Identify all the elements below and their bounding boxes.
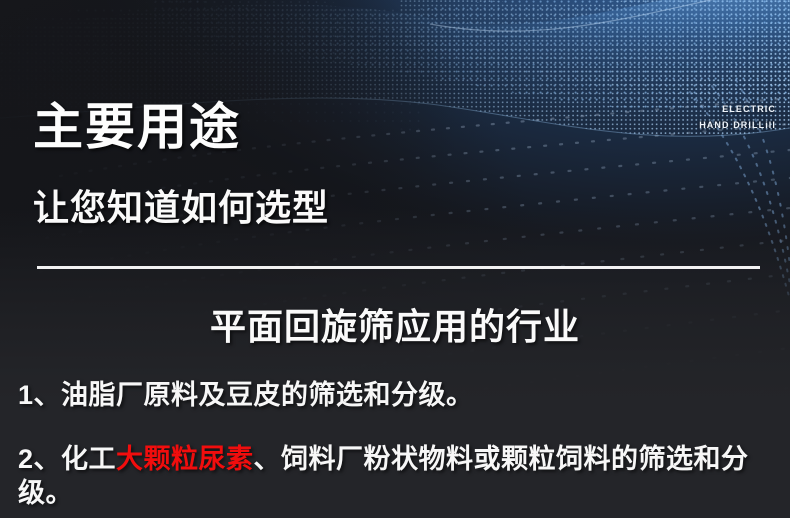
- list-item-index: 2、: [18, 444, 61, 474]
- application-list: 1、油脂厂原料及豆皮的筛选和分级。 2、化工大颗粒尿素、饲料厂粉状物料或颗粒饲料…: [18, 378, 776, 510]
- stamp-line-1: ELECTRIC: [699, 101, 776, 117]
- promo-banner-page: ELECTRIC HAND DRILLill 主要用途 让您知道如何选型 平面回…: [0, 0, 790, 518]
- list-item-text-prefix: 化工: [61, 444, 116, 474]
- list-item-text: 油脂厂原料及豆皮的筛选和分级。: [61, 380, 474, 410]
- list-item: 1、油脂厂原料及豆皮的筛选和分级。: [18, 378, 776, 412]
- section-title: 平面回旋筛应用的行业: [0, 298, 790, 350]
- corner-stamp: ELECTRIC HAND DRILLill: [699, 101, 776, 133]
- horizontal-divider: [37, 266, 760, 269]
- list-item-highlight: 大颗粒尿素: [116, 444, 254, 474]
- page-title: 主要用途: [33, 98, 241, 156]
- page-subtitle: 让您知道如何选型: [33, 186, 329, 230]
- list-item-index: 1、: [18, 380, 61, 410]
- stamp-line-2: HAND DRILLill: [699, 117, 776, 133]
- list-item: 2、化工大颗粒尿素、饲料厂粉状物料或颗粒饲料的筛选和分级。: [18, 442, 776, 510]
